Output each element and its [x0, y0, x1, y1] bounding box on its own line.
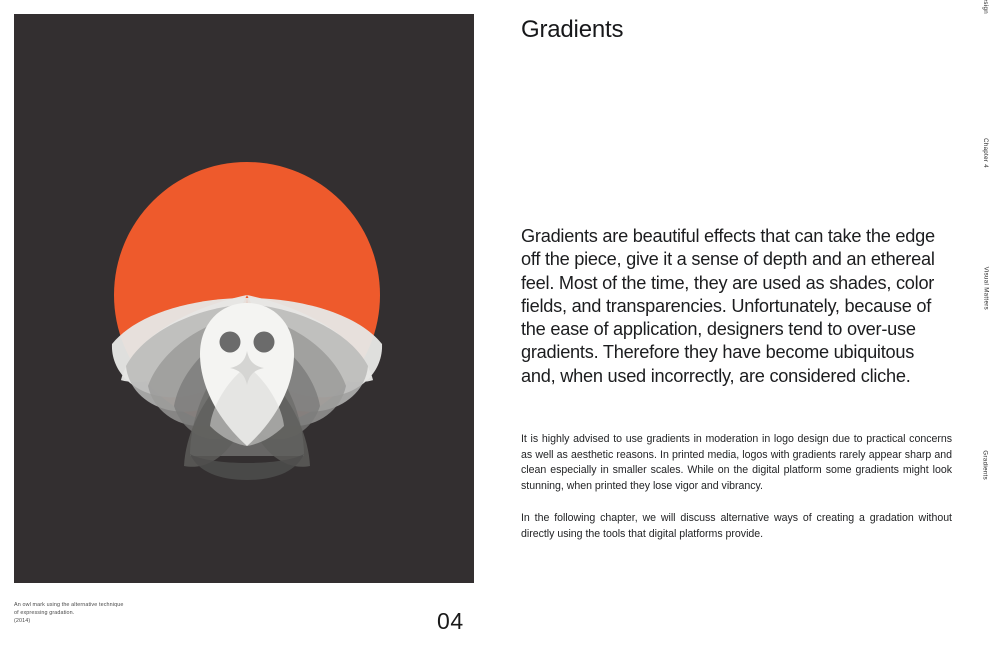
caption-line-3: (2014): [14, 617, 234, 625]
owl-body-group: [200, 303, 294, 446]
body-text-block: It is highly advised to use gradients in…: [521, 432, 952, 542]
owl-eye-left: [220, 332, 241, 353]
left-page: An owl mark using the alternative techni…: [0, 0, 500, 648]
margin-label-topic: Gradients: [982, 450, 988, 480]
caption-line-1: An owl mark using the alternative techni…: [14, 601, 234, 609]
owl-artwork-panel: [14, 14, 474, 583]
body-paragraph: In the following chapter, we will discus…: [521, 511, 952, 542]
page-number-left: 04: [437, 608, 464, 635]
book-spread: An owl mark using the alternative techni…: [0, 0, 1000, 648]
margin-label-book-title: Principles of Logo Design: [982, 0, 988, 14]
lead-paragraph: Gradients are beautiful effects that can…: [521, 225, 941, 388]
body-paragraph: It is highly advised to use gradients in…: [521, 432, 952, 495]
caption-line-2: of expressing gradation.: [14, 609, 234, 617]
owl-mark-illustration: [14, 14, 474, 583]
margin-label-rail: Principles of Logo Design Chapter 4 Visu…: [966, 0, 1000, 648]
artwork-caption: An owl mark using the alternative techni…: [14, 601, 234, 626]
margin-label-chapter: Chapter 4: [982, 138, 988, 168]
margin-label-section: Visual Matters: [982, 267, 988, 310]
right-page: Gradients Gradients are beautiful effect…: [500, 0, 1000, 648]
owl-eye-right: [254, 332, 275, 353]
page-title: Gradients: [521, 16, 623, 44]
